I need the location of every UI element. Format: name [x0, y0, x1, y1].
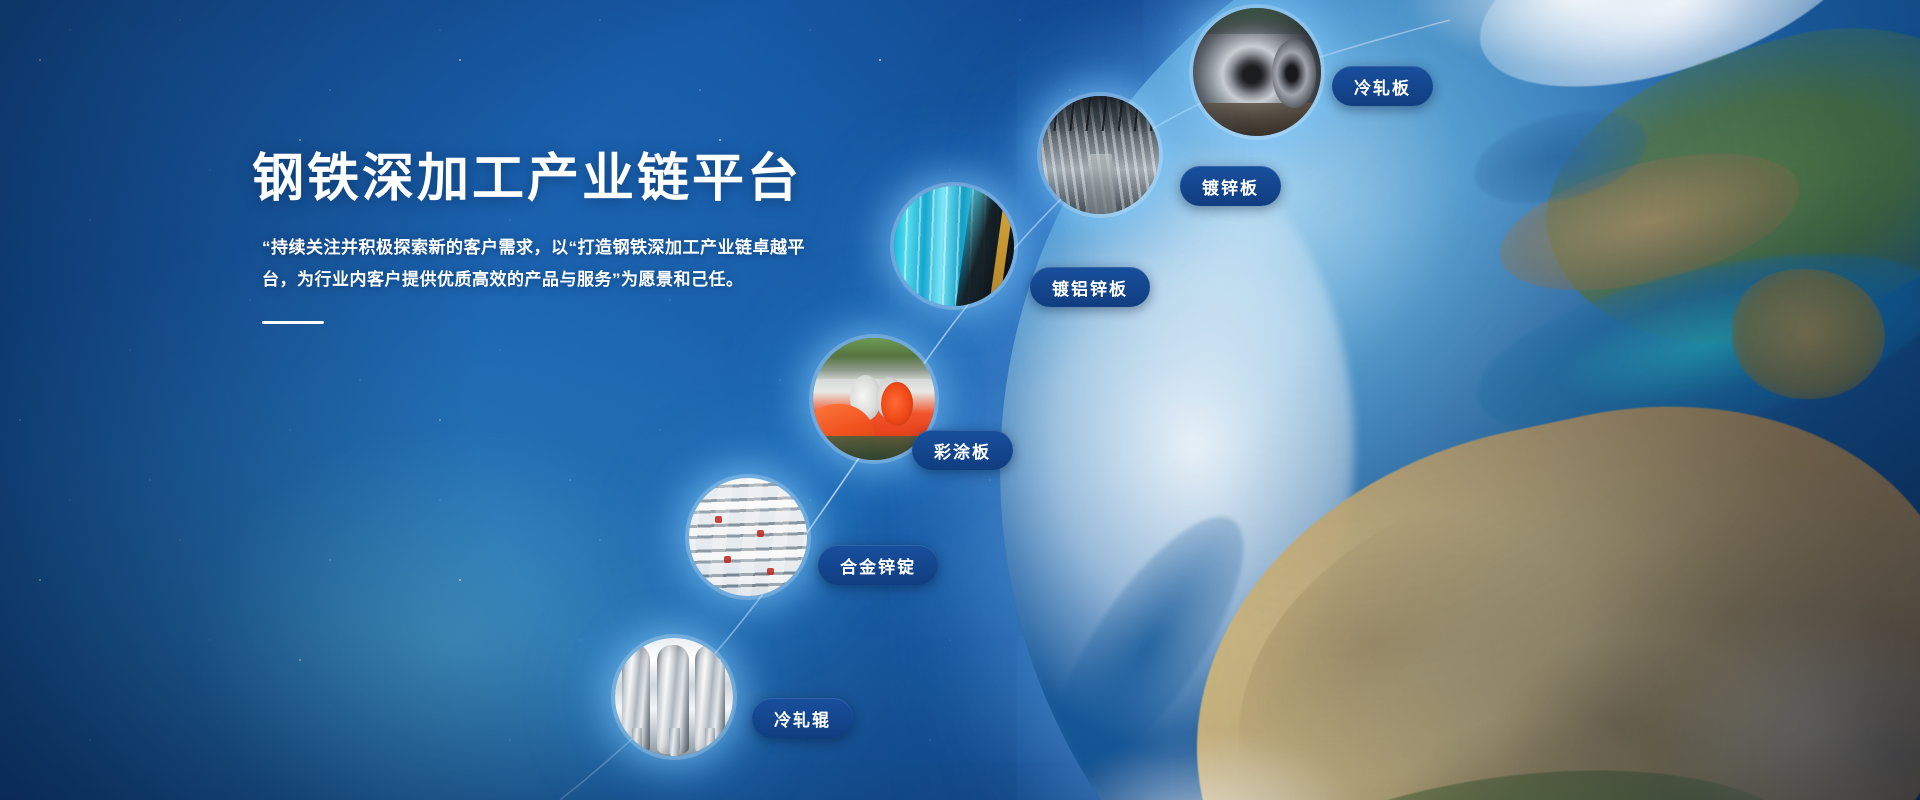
- ingot-stamp: [757, 530, 764, 537]
- chain-label-color-coated-plate[interactable]: 彩涂板: [912, 430, 1013, 470]
- chain-label-text: 镀锌板: [1202, 174, 1259, 199]
- chain-label-aluzinc-plate[interactable]: 镀铝锌板: [1030, 267, 1150, 307]
- aluzinc-sheet-photo[interactable]: [894, 186, 1014, 306]
- roof-beams: [1041, 96, 1159, 131]
- hero-banner: 钢铁深加工产业链平台 “持续关注并积极探索新的客户需求，以“打造钢铁深加工产业链…: [0, 0, 1920, 800]
- page-title: 钢铁深加工产业链平台: [252, 148, 892, 210]
- roller-tip-3: [705, 728, 716, 756]
- chain-label-cold-rolled-plate[interactable]: 冷轧板: [1332, 66, 1433, 106]
- ingot-stamp: [767, 568, 774, 575]
- zinc-ingots-image: [689, 478, 807, 596]
- hero-text-block: 钢铁深加工产业链平台 “持续关注并积极探索新的客户需求，以“打造钢铁深加工产业链…: [252, 148, 892, 324]
- yard-background: [813, 338, 935, 379]
- chain-label-alloy-zinc-ingot[interactable]: 合金锌锭: [818, 545, 938, 585]
- chain-label-galvanized-plate[interactable]: 镀锌板: [1180, 166, 1281, 206]
- chain-label-text: 冷轧辊: [774, 706, 831, 731]
- chain-label-cold-roll-roller[interactable]: 冷轧辊: [752, 698, 853, 738]
- secondary-coil: [1272, 39, 1316, 108]
- steel-coils-image: [1193, 8, 1321, 136]
- zinc-ingots-photo[interactable]: [689, 478, 807, 596]
- cold-roll-rollers-photo[interactable]: [615, 638, 733, 756]
- page-subtitle: “持续关注并积极探索新的客户需求，以“打造钢铁深加工产业链卓越平台，为行业内客户…: [262, 232, 822, 295]
- aluzinc-sheet-image: [894, 186, 1014, 306]
- chain-label-text: 彩涂板: [934, 438, 991, 463]
- factory-roof: [1193, 8, 1321, 34]
- steel-coils-photo[interactable]: [1193, 8, 1321, 136]
- chain-label-text: 合金锌锭: [840, 553, 916, 578]
- chain-label-text: 冷轧板: [1354, 74, 1411, 99]
- factory-floor: [1193, 103, 1321, 136]
- ingot-stamp: [724, 556, 731, 563]
- cold-roll-rollers-image: [615, 638, 733, 756]
- roller-tip-1: [632, 728, 643, 756]
- roller-tip-2: [669, 728, 680, 756]
- galvanized-warehouse-image: [1041, 96, 1159, 214]
- title-divider: [262, 321, 324, 324]
- ingot-highlights: [689, 478, 807, 596]
- galvanized-warehouse-photo[interactable]: [1041, 96, 1159, 214]
- orange-coil-1: [881, 382, 913, 426]
- chain-label-text: 镀铝锌板: [1052, 275, 1128, 300]
- ingot-stamp: [715, 516, 722, 523]
